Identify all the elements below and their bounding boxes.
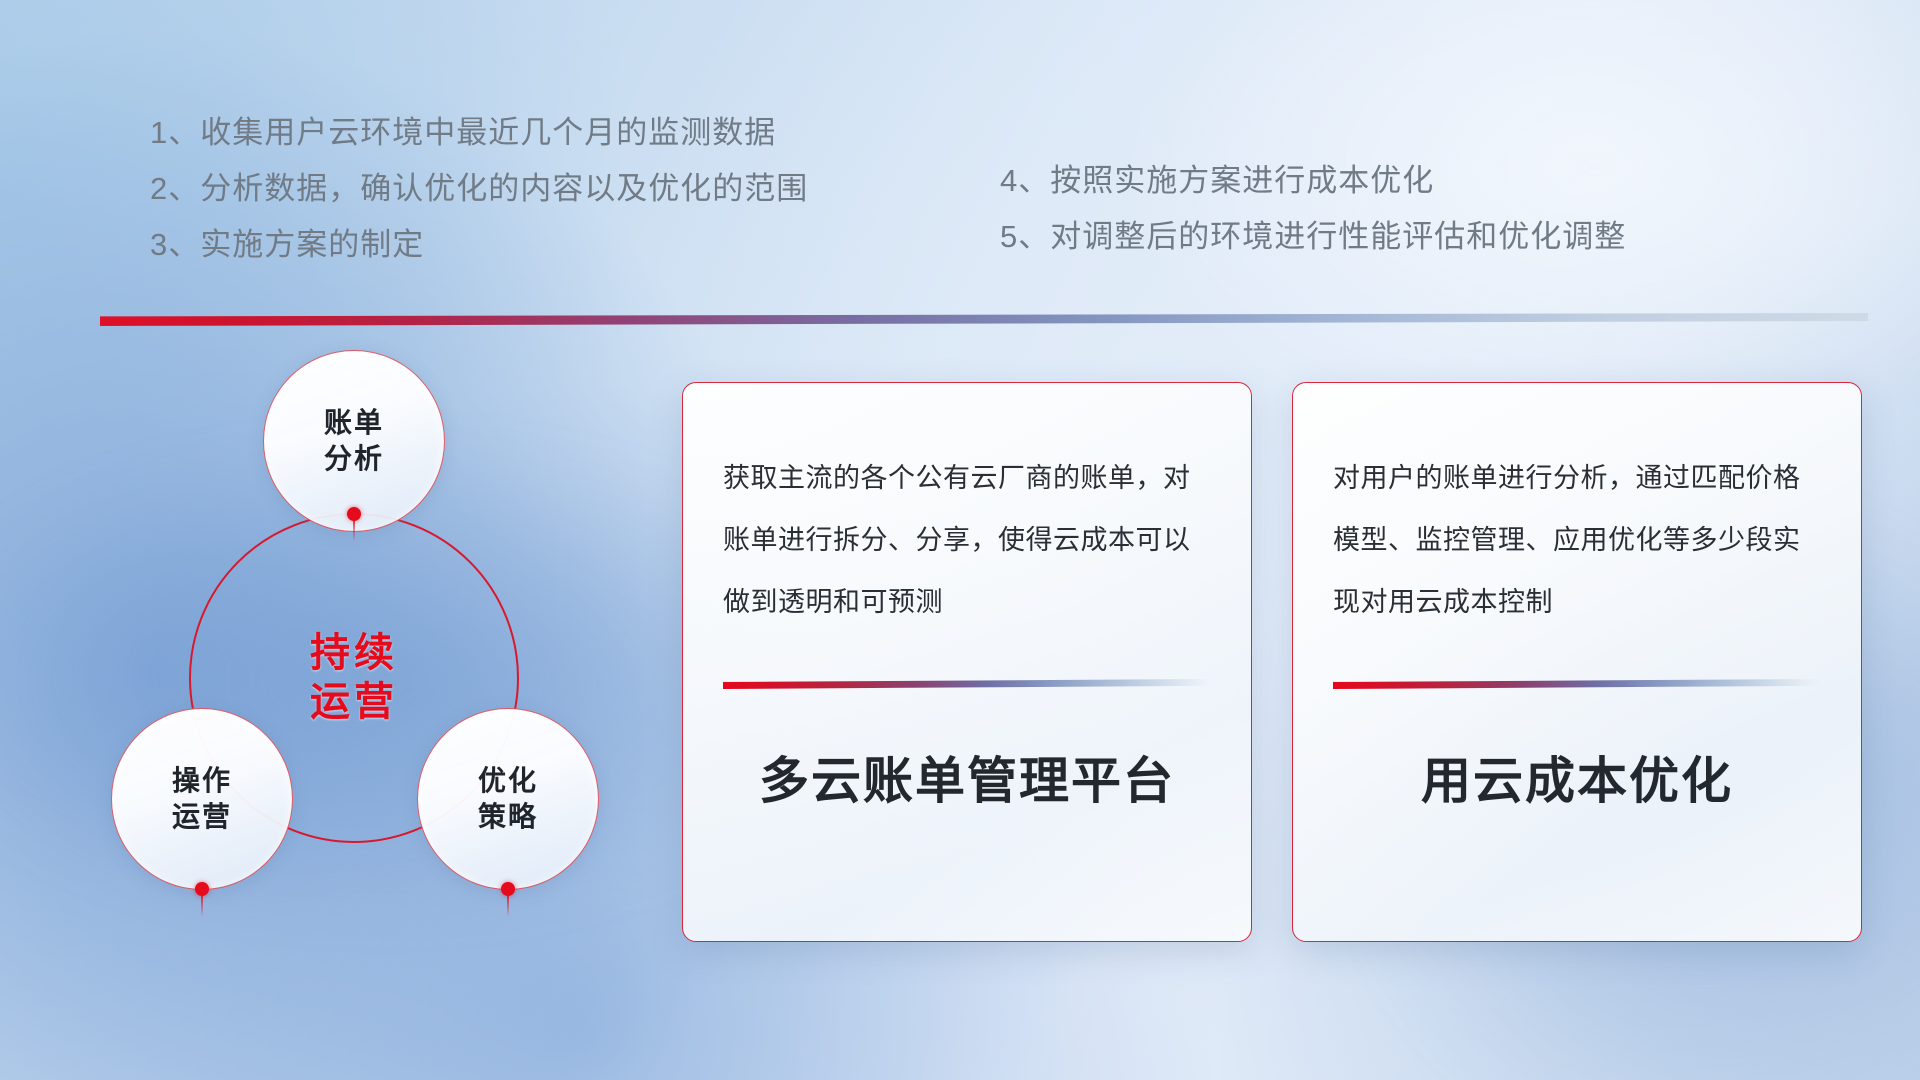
card-accent-rule [723,679,1211,689]
process-steps-right-column: 4、按照实施方案进行成本优化 5、对调整后的环境进行性能评估和优化调整 [1000,153,1626,265]
node-connector-top [353,520,355,542]
process-step-4: 4、按照实施方案进行成本优化 [1000,153,1626,209]
process-step-3: 3、实施方案的制定 [150,217,808,273]
node-label-line-1: 优化 [478,763,538,799]
continuous-operation-diagram: 持续 运营 账单 分析 操作 运营 优化 策略 [95,350,655,950]
node-label-line-1: 操作 [172,763,232,799]
card-body-text: 对用户的账单进行分析，通过匹配价格模型、监控管理、应用优化等多少段实现对用云成本… [1333,447,1821,633]
feature-card-cloud-cost-optimization[interactable]: 对用户的账单进行分析，通过匹配价格模型、监控管理、应用优化等多少段实现对用云成本… [1292,382,1862,942]
diagram-node-optimize-strategy[interactable]: 优化 策略 [417,708,599,890]
card-title: 多云账单管理平台 [723,741,1211,813]
node-dot-left [195,882,209,896]
node-dot-top [347,507,361,521]
node-dot-right [501,882,515,896]
process-step-2: 2、分析数据，确认优化的内容以及优化的范围 [150,161,808,217]
card-title: 用云成本优化 [1333,741,1821,813]
feature-card-multi-cloud-bill-platform[interactable]: 获取主流的各个公有云厂商的账单，对账单进行拆分、分享，使得云成本可以做到透明和可… [682,382,1252,942]
process-step-5: 5、对调整后的环境进行性能评估和优化调整 [1000,209,1626,265]
node-connector-right [507,895,509,917]
card-accent-rule [1333,679,1821,689]
node-label-line-2: 运营 [172,799,232,835]
node-connector-left [201,895,203,917]
diagram-node-operation[interactable]: 操作 运营 [111,708,293,890]
center-label-line-2: 运营 [310,678,398,727]
process-steps-left-column: 1、收集用户云环境中最近几个月的监测数据 2、分析数据，确认优化的内容以及优化的… [150,105,808,273]
node-label-line-2: 分析 [324,441,384,477]
diagram-node-bill-analysis[interactable]: 账单 分析 [263,350,445,532]
process-steps-section: 1、收集用户云环境中最近几个月的监测数据 2、分析数据，确认优化的内容以及优化的… [0,105,1920,295]
node-label-line-2: 策略 [478,799,538,835]
center-label-line-1: 持续 [310,629,398,678]
card-body-text: 获取主流的各个公有云厂商的账单，对账单进行拆分、分享，使得云成本可以做到透明和可… [723,447,1211,633]
node-label-line-1: 账单 [324,405,384,441]
process-step-1: 1、收集用户云环境中最近几个月的监测数据 [150,105,808,161]
